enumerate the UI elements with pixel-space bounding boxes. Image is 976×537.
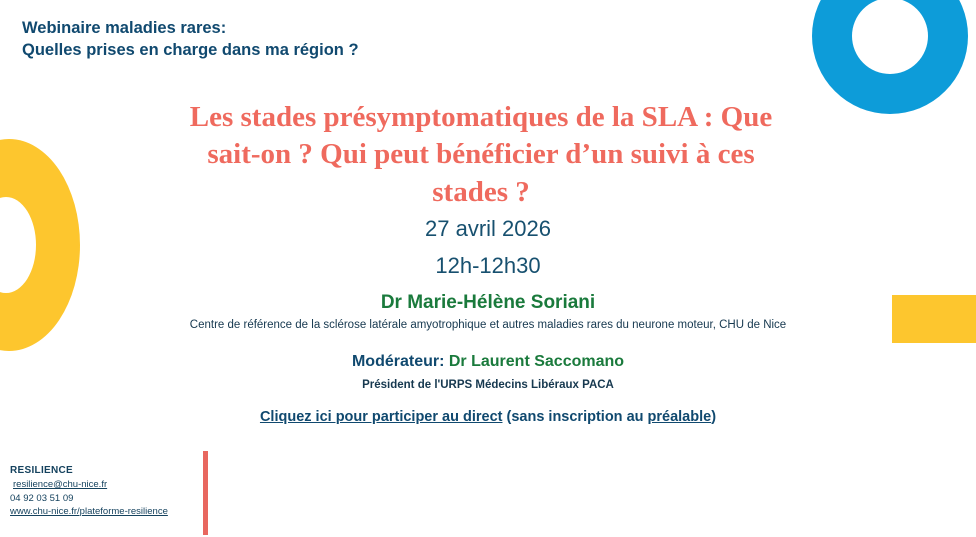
join-note-underlined: préalable (648, 409, 712, 425)
event-time: 12h-12h30 (188, 248, 788, 285)
speaker-name: Dr Marie-Hélène Soriani (138, 292, 838, 314)
webinar-announcement-slide: Webinaire maladies rares: Quelles prises… (0, 0, 976, 537)
title-line-2: sait-on ? Qui peut bénéficier d’un suivi… (96, 136, 866, 173)
event-date: 27 avril 2026 (188, 211, 788, 248)
header-line-1: Webinaire maladies rares: (22, 18, 662, 40)
moderator-line: Modérateur: Dr Laurent Saccomano (198, 353, 778, 371)
yellow-ring-hole (0, 197, 36, 293)
title-line-3: stades ? (96, 174, 866, 211)
blue-ring-hole (852, 0, 928, 74)
title-line-1: Les stades présymptomatiques de la SLA :… (96, 99, 866, 136)
join-note-post: ) (711, 409, 716, 425)
logo-strip: URPS ml paca LES MÉDECINS LIBÉRAUX malad… (0, 450, 976, 537)
join-link-note: (sans inscription au préalable) (502, 409, 716, 425)
moderator-affiliation: Président de l'URPS Médecins Libéraux PA… (198, 379, 778, 391)
moderator-name: Dr Laurent Saccomano (449, 353, 624, 370)
moderator-label: Modérateur: (352, 353, 444, 370)
speaker-affiliation: Centre de référence de la sclérose latér… (118, 319, 858, 331)
blue-ring-decoration (812, 0, 968, 114)
schedule-block: 27 avril 2026 12h-12h30 (188, 211, 788, 285)
page-title: Les stades présymptomatiques de la SLA :… (96, 99, 866, 211)
join-live-link[interactable]: Cliquez ici pour participer au direct (260, 409, 503, 425)
header-line-2: Quelles prises en charge dans ma région … (22, 40, 662, 62)
yellow-ring-decoration (0, 139, 80, 351)
join-note-pre: (sans inscription au (502, 409, 647, 425)
yellow-rectangle-decoration (892, 295, 976, 343)
join-link-line: Cliquez ici pour participer au direct (s… (188, 409, 788, 425)
header-block: Webinaire maladies rares: Quelles prises… (22, 18, 662, 62)
